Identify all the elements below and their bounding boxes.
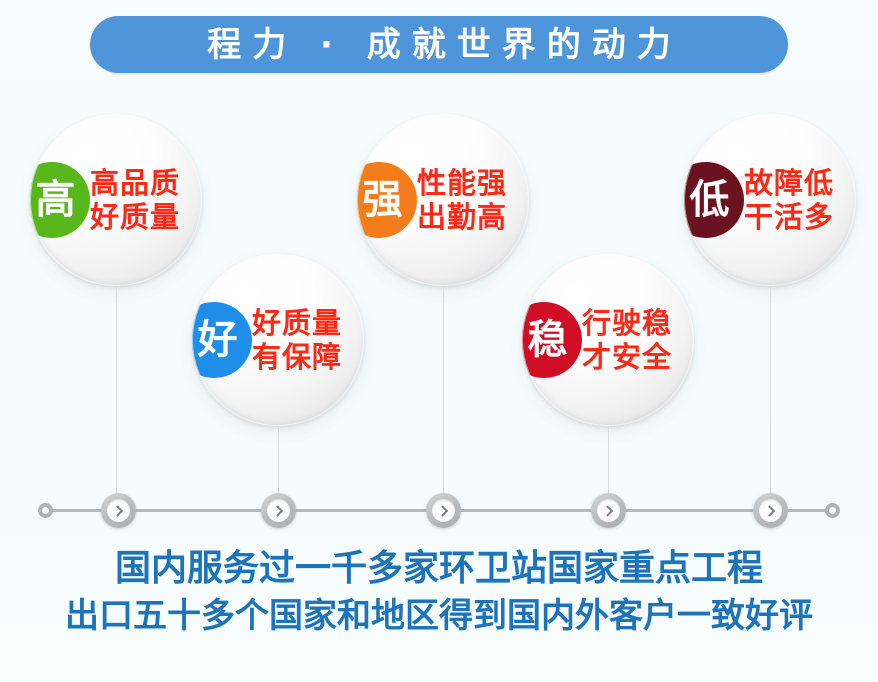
node-inner-1 [107,499,130,522]
feature-line-3b: 出勤高 [417,200,507,234]
infographic-stage: 程力 · 成就世界的动力 高 高品质 好质量 好 好质量 有保障 强 性能强 出… [0,0,878,682]
footer-line-1: 国内服务过一千多家环卫站国家重点工程 [0,548,878,590]
footer-block: 国内服务过一千多家环卫站国家重点工程 出口五十多个国家和地区得到国内外客户一致好… [0,548,878,637]
feature-line-2a: 好质量 [252,306,342,340]
feature-line-1a: 高品质 [90,166,180,200]
feature-line-1b: 好质量 [90,200,180,234]
chevron-right-icon [271,505,282,516]
feature-text-4: 行驶稳 才安全 [582,306,672,374]
timeline-node-1[interactable] [101,493,136,528]
stem-5 [770,286,771,497]
feature-text-1: 高品质 好质量 [90,166,180,234]
feature-bubble-2[interactable]: 好 好质量 有保障 [192,254,364,426]
badge-di: 低 [684,162,744,238]
feature-bubble-5[interactable]: 低 故障低 干活多 [684,114,856,286]
header-banner: 程力 · 成就世界的动力 [90,16,788,73]
stem-1 [116,286,117,497]
feature-line-4a: 行驶稳 [582,306,672,340]
stem-2 [278,426,279,497]
feature-line-4b: 才安全 [582,340,672,374]
footer-line-2: 出口五十多个国家和地区得到国内外客户一致好评 [0,596,878,636]
timeline-node-3[interactable] [426,493,461,528]
timeline-cap-right [825,503,840,518]
timeline-node-4[interactable] [591,493,626,528]
feature-text-3: 性能强 出勤高 [417,166,507,234]
node-inner-4 [597,499,620,522]
chevron-right-icon [601,505,612,516]
chevron-right-icon [763,505,774,516]
chevron-right-icon [436,505,447,516]
node-inner-3 [432,499,455,522]
stem-4 [608,426,609,497]
feature-line-2b: 有保障 [252,340,342,374]
feature-bubble-4[interactable]: 稳 行驶稳 才安全 [522,254,694,426]
feature-line-3a: 性能强 [417,166,507,200]
feature-text-2: 好质量 有保障 [252,306,342,374]
timeline-node-5[interactable] [753,493,788,528]
timeline-cap-left [38,503,53,518]
stem-3 [443,286,444,497]
banner-title: 程力 · 成就世界的动力 [196,28,682,62]
feature-text-5: 故障低 干活多 [744,166,834,234]
badge-gao: 高 [30,162,90,238]
feature-bubble-3[interactable]: 强 性能强 出勤高 [357,114,529,286]
feature-line-5a: 故障低 [744,166,834,200]
badge-qiang: 强 [357,162,417,238]
chevron-right-icon [111,505,122,516]
node-inner-5 [759,499,782,522]
badge-hao: 好 [192,302,252,378]
timeline-node-2[interactable] [261,493,296,528]
badge-wen: 稳 [522,302,582,378]
feature-bubble-1[interactable]: 高 高品质 好质量 [30,114,202,286]
node-inner-2 [267,499,290,522]
feature-line-5b: 干活多 [744,200,834,234]
